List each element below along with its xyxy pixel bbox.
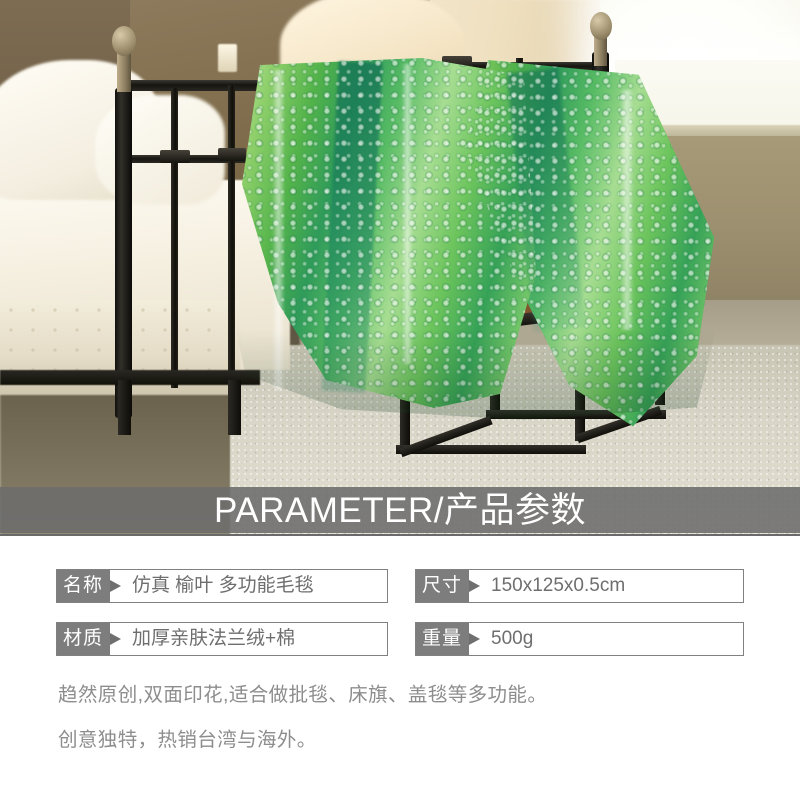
blanket-fold-3 xyxy=(620,90,634,330)
description-line-1: 趋然原创,双面印花,适合做批毯、床旗、盖毯等多功能。 xyxy=(58,678,547,707)
parameter-field-size: 尺寸 150x125x0.5cm xyxy=(415,569,744,603)
blanket-fold-2 xyxy=(402,64,413,364)
product-detail-page: PARAMETER/产品参数 名称 仿真 榆叶 多功能毛毯 尺寸 150x125… xyxy=(0,0,800,800)
parameter-label-weight: 重量 xyxy=(416,623,469,655)
parameter-value-weight: 500g xyxy=(469,623,743,655)
candle xyxy=(218,44,237,72)
bedpost-right-neck xyxy=(594,36,607,66)
parameter-field-weight: 重量 500g xyxy=(415,622,744,656)
parameter-section: 名称 仿真 榆叶 多功能毛毯 尺寸 150x125x0.5cm 材质 加厚亲肤法… xyxy=(0,536,800,800)
parameter-value-size: 150x125x0.5cm xyxy=(469,570,743,602)
parameter-banner: PARAMETER/产品参数 xyxy=(0,487,800,533)
parameter-label-size: 尺寸 xyxy=(416,570,469,602)
bedpost-left-finial xyxy=(112,26,136,56)
parameter-label-material: 材质 xyxy=(57,623,110,655)
bed-leg-right xyxy=(228,380,241,435)
parameter-row: 材质 加厚亲肤法兰绒+棉 重量 500g xyxy=(56,622,744,656)
parameter-field-name: 名称 仿真 榆叶 多功能毛毯 xyxy=(56,569,388,603)
bed-bracket-1 xyxy=(160,150,190,163)
parameter-field-material: 材质 加厚亲肤法兰绒+棉 xyxy=(56,622,388,656)
bed-spindle-2 xyxy=(228,85,235,375)
description-line-2: 创意独特，热销台湾与海外。 xyxy=(58,723,317,752)
parameter-value-material: 加厚亲肤法兰绒+棉 xyxy=(110,623,387,655)
bedpost-left xyxy=(115,88,132,418)
bed-bracket-2 xyxy=(218,148,246,161)
bedpost-right-finial xyxy=(590,12,612,40)
parameter-value-name: 仿真 榆叶 多功能毛毯 xyxy=(110,570,387,602)
bed-spindle-1 xyxy=(171,88,178,388)
bed-leg-left xyxy=(118,380,131,435)
parameter-banner-title: PARAMETER/产品参数 xyxy=(214,493,586,528)
product-photo: PARAMETER/产品参数 xyxy=(0,0,800,535)
bedpost-left-neck xyxy=(117,52,131,92)
parameter-row: 名称 仿真 榆叶 多功能毛毯 尺寸 150x125x0.5cm xyxy=(56,569,744,603)
parameter-label-name: 名称 xyxy=(57,570,110,602)
